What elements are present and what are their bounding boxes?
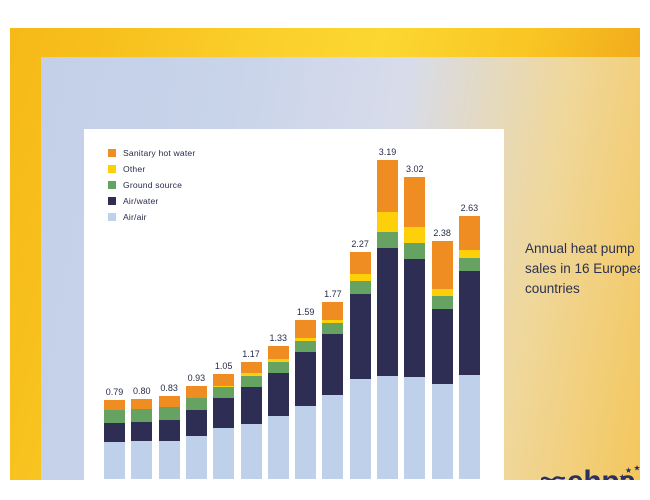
bar-segment[interactable] xyxy=(104,400,125,410)
bar-group: 3.192022 xyxy=(377,160,398,479)
bar-segment[interactable] xyxy=(459,216,480,250)
bar-segment[interactable] xyxy=(432,384,453,479)
bar-segment[interactable] xyxy=(104,442,125,479)
bar-segment[interactable] xyxy=(131,422,152,441)
bar-segment[interactable] xyxy=(159,396,180,407)
bar-segment[interactable] xyxy=(350,274,371,281)
bar-segment[interactable] xyxy=(104,410,125,423)
bar-segment[interactable] xyxy=(186,410,207,436)
bar-stack[interactable] xyxy=(404,177,425,479)
bar-group: 1.592019 xyxy=(295,320,316,479)
bar-segment[interactable] xyxy=(350,294,371,379)
bar-segment[interactable] xyxy=(404,243,425,259)
bar-segment[interactable] xyxy=(432,309,453,384)
bar-segment[interactable] xyxy=(268,416,289,479)
bar-stack[interactable] xyxy=(131,399,152,479)
bar-group: 0.932015 xyxy=(186,386,207,479)
bar-segment[interactable] xyxy=(159,441,180,479)
bar-segment[interactable] xyxy=(350,281,371,294)
bar-segment[interactable] xyxy=(295,352,316,406)
bar-segment[interactable] xyxy=(131,399,152,409)
bar-segment[interactable] xyxy=(432,289,453,296)
bar-segment[interactable] xyxy=(377,248,398,376)
bar-segment[interactable] xyxy=(377,232,398,248)
bar-segment[interactable] xyxy=(377,376,398,479)
bar-segment[interactable] xyxy=(241,362,262,373)
bar-segment[interactable] xyxy=(213,387,234,398)
bar-segment[interactable] xyxy=(322,323,343,334)
bar-segment[interactable] xyxy=(159,407,180,420)
bar-segment[interactable] xyxy=(432,296,453,309)
bar-stack[interactable] xyxy=(377,160,398,479)
eu-stars-icon xyxy=(615,465,640,480)
bar-value-label: 3.02 xyxy=(392,164,438,174)
chart-panel: Sanitary hot waterOtherGround sourceAir/… xyxy=(84,129,504,480)
bar-segment[interactable] xyxy=(131,441,152,479)
bar-group: 1.332018 xyxy=(268,346,289,479)
bar-group: 2.272021 xyxy=(350,252,371,479)
bar-segment[interactable] xyxy=(459,250,480,258)
bar-group: 0.792012 xyxy=(104,400,125,479)
bar-stack[interactable] xyxy=(432,241,453,479)
bar-value-label: 3.19 xyxy=(365,147,411,157)
bar-stack[interactable] xyxy=(459,216,480,479)
chart-plot-area: 0.7920120.8020130.8320140.9320151.052016… xyxy=(84,129,504,480)
bar-segment[interactable] xyxy=(377,212,398,232)
bar-group: 0.802013 xyxy=(131,399,152,479)
page-title: Annual heat pump sales in 16 European co… xyxy=(525,239,640,299)
bar-group: 0.832014 xyxy=(159,396,180,479)
bar-stack[interactable] xyxy=(268,346,289,479)
bar-stack[interactable] xyxy=(186,386,207,479)
bar-segment[interactable] xyxy=(104,423,125,442)
bar-stack[interactable] xyxy=(350,252,371,479)
bar-segment[interactable] xyxy=(350,379,371,479)
wave-icon xyxy=(541,474,565,480)
bar-segment[interactable] xyxy=(459,375,480,479)
bar-segment[interactable] xyxy=(241,376,262,387)
bar-segment[interactable] xyxy=(186,398,207,410)
bar-stack[interactable] xyxy=(213,374,234,479)
bar-segment[interactable] xyxy=(459,271,480,375)
bar-group: 2.382024 xyxy=(432,241,453,479)
bar-segment[interactable] xyxy=(241,387,262,424)
bar-stack[interactable] xyxy=(241,362,262,479)
bar-segment[interactable] xyxy=(322,395,343,479)
bar-segment[interactable] xyxy=(186,386,207,398)
bar-segment[interactable] xyxy=(268,346,289,359)
ehpa-logo: ehpa xyxy=(541,465,640,480)
bar-stack[interactable] xyxy=(104,400,125,479)
bar-segment[interactable] xyxy=(350,252,371,274)
bar-segment[interactable] xyxy=(322,334,343,395)
bar-segment[interactable] xyxy=(268,362,289,373)
slide: Sanitary hot waterOtherGround sourceAir/… xyxy=(10,28,640,480)
bar-segment[interactable] xyxy=(404,259,425,377)
bar-segment[interactable] xyxy=(295,341,316,352)
bar-segment[interactable] xyxy=(295,320,316,338)
bar-segment[interactable] xyxy=(322,302,343,320)
bar-group: 1.172017 xyxy=(241,362,262,479)
bar-segment[interactable] xyxy=(213,398,234,428)
bar-segment[interactable] xyxy=(241,424,262,479)
bar-segment[interactable] xyxy=(459,258,480,271)
bar-group: 1.772020 xyxy=(322,302,343,479)
bar-segment[interactable] xyxy=(295,406,316,479)
bar-segment[interactable] xyxy=(213,428,234,479)
bar-segment[interactable] xyxy=(213,374,234,386)
bar-group: 1.052016 xyxy=(213,374,234,479)
bar-segment[interactable] xyxy=(131,409,152,422)
bar-segment[interactable] xyxy=(186,436,207,479)
bar-segment[interactable] xyxy=(268,373,289,416)
bar-stack[interactable] xyxy=(322,302,343,479)
bar-segment[interactable] xyxy=(432,241,453,289)
bar-segment[interactable] xyxy=(404,377,425,479)
bar-stack[interactable] xyxy=(159,396,180,479)
bar-segment[interactable] xyxy=(404,177,425,227)
bar-value-label: 2.63 xyxy=(446,203,492,213)
bar-group: 2.632025 xyxy=(459,216,480,479)
bar-group: 3.022023 xyxy=(404,177,425,479)
bar-segment[interactable] xyxy=(159,420,180,441)
bar-stack[interactable] xyxy=(295,320,316,479)
slide-content-area: Sanitary hot waterOtherGround sourceAir/… xyxy=(41,57,640,480)
